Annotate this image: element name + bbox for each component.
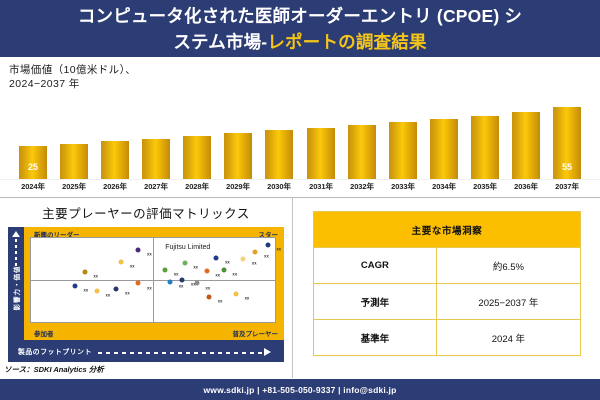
bar-2025年 [60,144,88,179]
bar-2026年 [101,141,129,179]
page-footer: www.sdki.jp | +81-505-050-9337 | info@sd… [0,379,600,400]
matrix-data-point [180,278,185,283]
bar-rect [265,130,293,179]
matrix-data-point-label: xx [147,285,152,290]
quadrant-label-participants: 参加者 [34,328,54,338]
vendor-matrix-panel: 主要プレーヤーの評価マトリックス 新興のリーダー スター 参加者 普及プレーヤー… [0,198,292,378]
matrix-title: 主要プレーヤーの評価マトリックス [0,203,292,222]
matrix-data-point-label: xx [245,296,250,301]
bar-rect [60,144,88,179]
x-axis-tick-2029年: 2029年 [217,181,259,192]
x-axis-tick-2030年: 2030年 [258,181,300,192]
x-axis-tick-2032年: 2032年 [341,181,383,192]
bar-rect [471,116,499,179]
x-axis-tick-2031年: 2031年 [300,181,342,192]
x-axis-tick-2026年: 2026年 [94,181,136,192]
matrix-data-point-label: xx [179,283,184,288]
bar-2034年 [430,119,458,179]
insights-table: 主要な市場洞察 CAGR 約6.5% 予測年 2025−2037 年 基準年 2… [313,211,581,356]
matrix-data-point [204,268,209,273]
x-axis-tick-2035年: 2035年 [464,181,506,192]
bar-value-label: 55 [553,162,581,172]
page-header: コンピュータ化された医師オーダーエントリ (CPOE) シ ステム市場-レポート… [0,0,600,57]
matrix-chart: 新興のリーダー スター 参加者 普及プレーヤー Fujitsu Limited … [8,227,284,340]
x-axis-tick-2025年: 2025年 [53,181,95,192]
page-title-line1: コンピュータ化された医師オーダーエントリ (CPOE) シ [78,6,522,26]
matrix-data-point [82,269,87,274]
page-title-line2-accent: レポートの調査結果 [267,32,426,52]
matrix-data-point-label: xx [106,293,111,298]
x-axis-dashed-line [98,352,263,354]
matrix-data-point [221,267,226,272]
matrix-data-point-label: xx [125,291,130,296]
matrix-data-point [136,247,141,252]
x-axis-tick-2033年: 2033年 [382,181,424,192]
table-row: 予測年 2025−2037 年 [314,284,581,320]
x-axis-tick-2024年: 2024年 [12,181,54,192]
matrix-data-point-label: xx [147,251,152,256]
bar-rect [512,112,540,179]
bar-2035年 [471,116,499,179]
x-axis-tick-2028年: 2028年 [176,181,218,192]
x-axis-tick-2036年: 2036年 [505,181,547,192]
matrix-data-point-label: xx [276,246,281,251]
page-title-line2-main: ステム市場- [173,32,267,52]
page-title: コンピュータ化された医師オーダーエントリ (CPOE) シ ステム市場-レポート… [70,3,530,55]
matrix-data-point [241,257,246,262]
matrix-plot-area: Fujitsu Limited xxxxxxxxxxxxxxxxxxxxxxxx… [30,237,276,323]
insights-key-base-year: 基準年 [314,320,437,356]
insights-value-cagr: 約6.5% [436,248,580,284]
bar-rect [183,136,211,179]
table-row: 基準年 2024 年 [314,320,581,356]
matrix-data-point [136,281,141,286]
matrix-data-point-label: xx [252,261,257,266]
bar-2036年 [512,112,540,179]
market-value-bar-chart: 市場価値（10億米ドル）、 2024−2037 年 2555 2024年2025… [0,57,600,197]
bar-rect [348,125,376,179]
matrix-data-point-label: xx [232,272,237,277]
footer-contact-text: www.sdki.jp | +81-505-050-9337 | info@sd… [204,385,397,395]
insights-value-forecast-year: 2025−2037 年 [436,284,580,320]
bar-2033年 [389,122,417,179]
source-note: ソース：SDKI Analytics 分析 [4,364,104,375]
x-axis-tick-2034年: 2034年 [423,181,465,192]
table-row: CAGR 約6.5% [314,248,581,284]
matrix-data-point [182,261,187,266]
matrix-data-point-label: xx [93,273,98,278]
matrix-data-point [114,287,119,292]
bar-rect [307,128,335,179]
bar-2029年 [224,133,252,179]
bar-2028年 [183,136,211,179]
bar-value-label: 25 [19,162,47,172]
matrix-data-point-label: xx [215,272,220,277]
chart-caption-line2: 2024−2037 年 [9,78,80,90]
bar-rect: 55 [553,107,581,179]
bar-2027年 [142,139,170,179]
bar-2030年 [265,130,293,179]
matrix-data-point [119,259,124,264]
matrix-data-point [253,250,258,255]
matrix-data-point [194,281,199,286]
matrix-data-point [214,256,219,261]
bar-rect [430,119,458,179]
bar-2037年: 55 [553,107,581,179]
x-axis-tick-2027年: 2027年 [135,181,177,192]
bar-rect: 25 [19,146,47,179]
bar-2032年 [348,125,376,179]
matrix-data-point-label: xx [193,265,198,270]
matrix-data-point-label: xx [206,285,211,290]
matrix-x-axis-label: 製品のフットプリント [18,346,92,356]
matrix-data-point-label: xx [174,272,179,277]
x-axis-tick-2037年: 2037年 [546,181,588,192]
matrix-data-point-label: xx [84,288,89,293]
chart-baseline [0,179,600,180]
chart-plot-area: 2555 [12,101,588,179]
insights-table-header: 主要な市場洞察 [314,212,581,248]
insights-key-cagr: CAGR [314,248,437,284]
quadrant-label-penetration-players: 普及プレーヤー [233,328,279,338]
matrix-data-point [207,294,212,299]
matrix-data-point [72,283,77,288]
insights-value-base-year: 2024 年 [436,320,580,356]
matrix-data-point-label: xx [130,263,135,268]
bar-rect [224,133,252,179]
matrix-data-point-label: xx [218,299,223,304]
matrix-data-point [168,279,173,284]
matrix-data-point [94,288,99,293]
chart-caption-line1: 市場価値（10億米ドル）、 [9,64,136,76]
chart-caption: 市場価値（10億米ドル）、 2024−2037 年 [9,63,136,91]
matrix-data-point [233,292,238,297]
bar-rect [101,141,129,179]
matrix-y-axis-label: 影響力・価値 [11,236,21,340]
arrow-right-icon [264,348,271,356]
key-market-insights-panel: 主要な市場洞察 CAGR 約6.5% 予測年 2025−2037 年 基準年 2… [293,198,600,378]
bar-2031年 [307,128,335,179]
matrix-x-axis: 製品のフットプリント [8,340,284,362]
insights-key-forecast-year: 予測年 [314,284,437,320]
matrix-data-point-label: xx [264,254,269,259]
matrix-highlight-label: Fujitsu Limited [165,244,210,251]
matrix-horizontal-divider [31,280,275,281]
matrix-data-point [163,267,168,272]
bar-2024年: 25 [19,146,47,179]
matrix-data-point-label: xx [225,260,230,265]
matrix-data-point [265,242,270,247]
bar-rect [389,122,417,179]
bar-rect [142,139,170,179]
